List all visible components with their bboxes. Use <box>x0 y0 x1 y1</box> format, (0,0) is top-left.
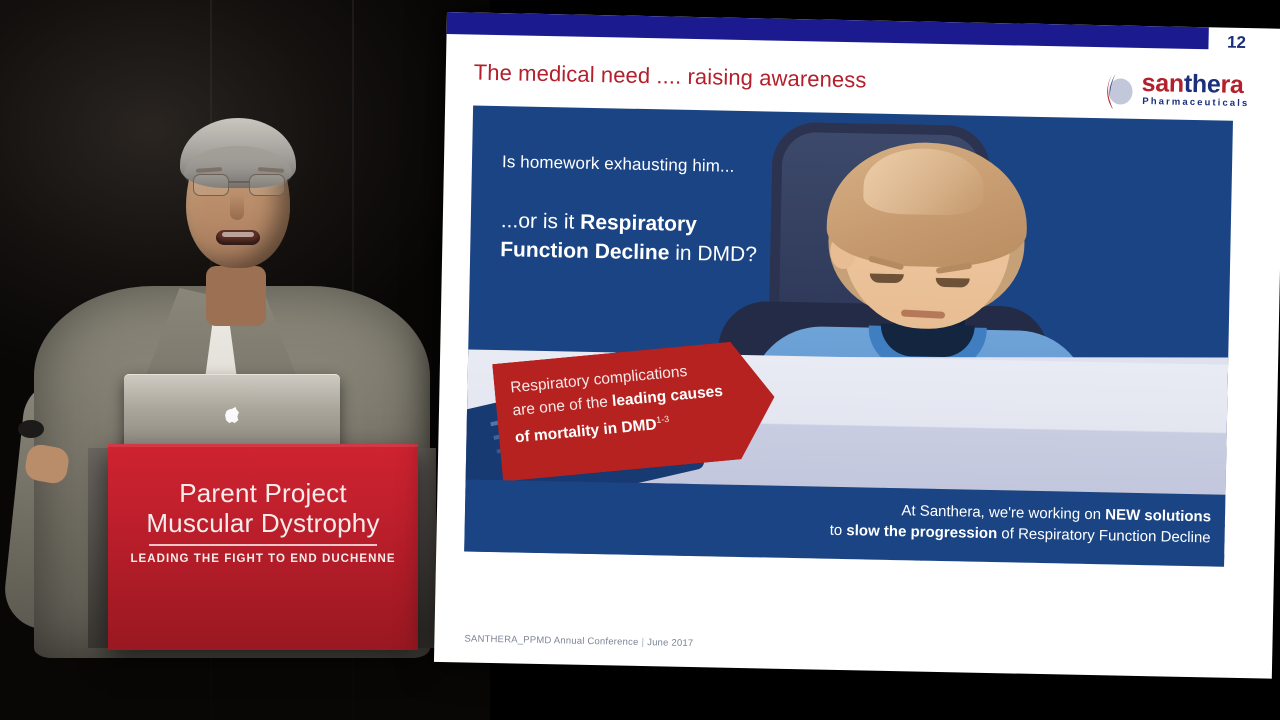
callout-line-2-prefix: are one of the <box>512 393 613 419</box>
footer-bold-2: slow the progression <box>846 522 997 542</box>
footer-suffix-2: of Respiratory Function Decline <box>997 525 1211 546</box>
projected-slide: 12 santhera Pharmaceuticals The medical … <box>434 12 1280 679</box>
podium-post-left <box>88 448 110 648</box>
slide-title: The medical need .... raising awareness <box>474 60 867 94</box>
illustration-footer: At Santhera, we're working on NEW soluti… <box>464 479 1225 566</box>
footer-prefix-2: to <box>830 522 847 539</box>
speaker-neck <box>206 266 266 326</box>
presentation-video-frame: Parent Project Muscular Dystrophy LEADIN… <box>0 0 1280 720</box>
podium-tagline: LEADING THE FIGHT TO END DUCHENNE <box>108 553 418 565</box>
headline-bold-1: Respiratory <box>580 211 697 236</box>
flame-icon <box>1101 71 1138 112</box>
boy-eye-right <box>936 278 970 288</box>
slide-footer-date: June 2017 <box>647 637 693 649</box>
podium-sign: Parent Project Muscular Dystrophy LEADIN… <box>108 444 418 650</box>
santhera-logo: santhera Pharmaceuticals <box>1101 69 1268 116</box>
logo-word-part2: the <box>1184 70 1221 99</box>
callout-text: Respiratory complications are one of the… <box>509 355 741 449</box>
glasses-icon <box>192 174 286 196</box>
callout-superscript: 1-3 <box>656 414 670 425</box>
logo-word-part3: ra <box>1220 71 1244 99</box>
podium-org-line1: Parent Project <box>108 478 418 508</box>
apple-logo-icon <box>225 407 240 424</box>
callout-line-2-bold: leading causes <box>611 383 723 410</box>
slide-illustration: Is homework exhausting him... ...or is i… <box>464 106 1233 567</box>
santhera-wordmark: santhera <box>1141 70 1243 98</box>
headline-line-1: Is homework exhausting him... <box>502 152 802 178</box>
slide-footer: SANTHERA_PPMD Annual Conference|June 201… <box>464 633 693 649</box>
podium-org-line2: Muscular Dystrophy <box>108 508 418 538</box>
boy-eye-left <box>870 274 904 284</box>
slide-page-number: 12 <box>1206 27 1267 58</box>
headline-prefix: ...or is it <box>501 209 581 234</box>
speaker-nose <box>230 194 244 220</box>
footer-prefix-1: At Santhera, we're working on <box>901 502 1105 523</box>
callout-line-3-bold: of mortality in DMD <box>514 416 657 446</box>
headline-bold-2: Function Decline <box>500 238 670 264</box>
podium-divider <box>149 544 377 546</box>
illustration-headline: Is homework exhausting him... ...or is i… <box>500 152 802 270</box>
logo-word-part1: san <box>1141 69 1184 98</box>
slide-footer-separator: | <box>638 637 647 648</box>
footer-bold-1: NEW solutions <box>1105 506 1211 525</box>
podium-branding: Parent Project Muscular Dystrophy LEADIN… <box>108 478 418 565</box>
headline-line-2: ...or is it Respiratory Function Decline… <box>500 206 801 270</box>
slide-header-band <box>447 12 1209 49</box>
microphone-icon <box>18 420 44 438</box>
slide-footer-deck: SANTHERA_PPMD Annual Conference <box>464 633 638 647</box>
speaker-mouth <box>216 230 260 245</box>
headline-suffix: in DMD? <box>669 242 757 267</box>
logo-subtitle: Pharmaceuticals <box>1142 96 1249 109</box>
